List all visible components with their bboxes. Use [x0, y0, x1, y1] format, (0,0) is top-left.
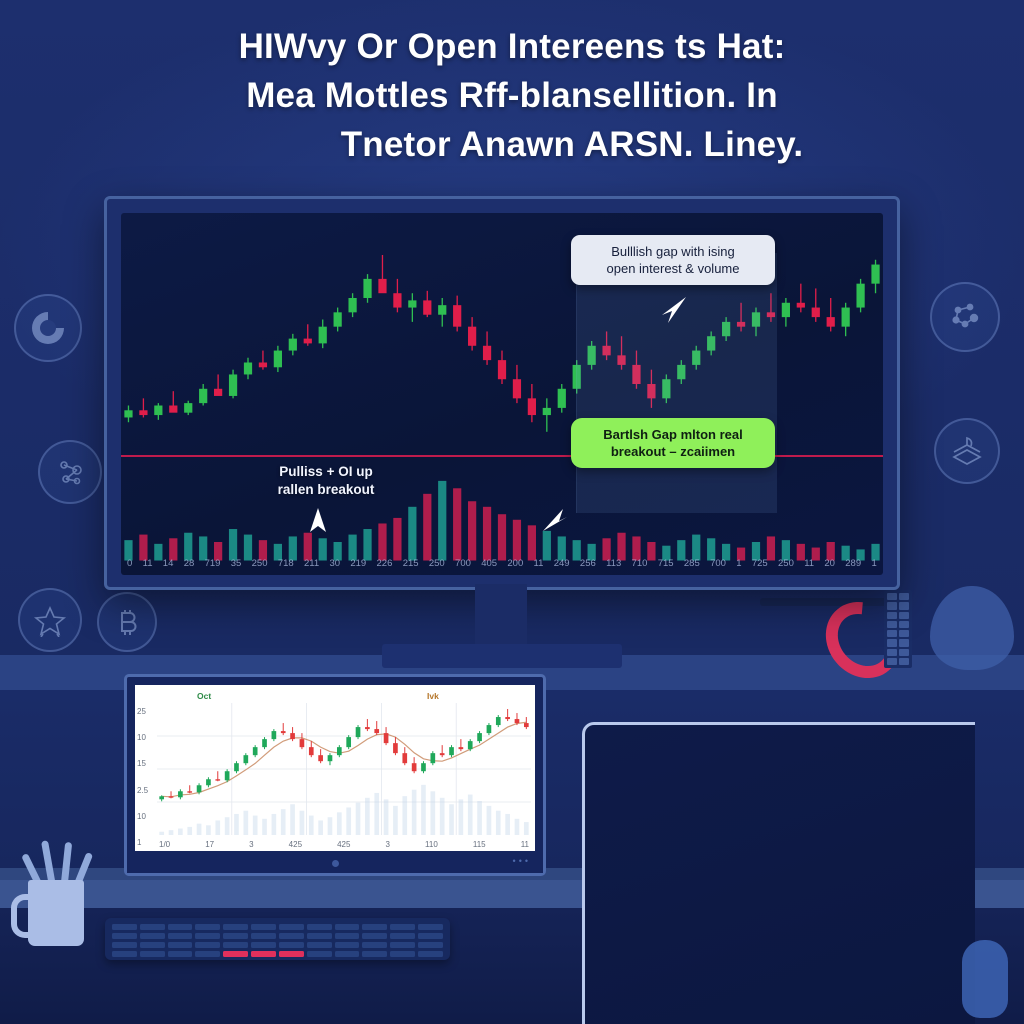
key[interactable]	[307, 924, 332, 930]
key[interactable]	[335, 942, 360, 948]
secondary-display-panel[interactable]	[582, 722, 975, 1024]
bitcoin-coin-icon	[97, 592, 157, 652]
key[interactable]	[362, 924, 387, 930]
key[interactable]	[307, 933, 332, 939]
key[interactable]	[390, 951, 415, 957]
star-badge-icon	[18, 588, 82, 652]
key[interactable]	[140, 951, 165, 957]
key[interactable]	[251, 933, 276, 939]
x-tick: 14	[163, 558, 174, 569]
laptop: Oct Ivk 2510152.5101 1/01734254253110115…	[124, 674, 546, 876]
key[interactable]	[168, 924, 193, 930]
key[interactable]	[112, 933, 137, 939]
laptop-tag-right: Ivk	[427, 691, 439, 701]
monitor-x-axis: 0111428719352507182113021922621525070040…	[121, 558, 883, 569]
network-nodes-icon	[930, 282, 1000, 352]
x-tick: 226	[377, 558, 393, 569]
key[interactable]	[418, 933, 443, 939]
key[interactable]	[335, 924, 360, 930]
keyboard-row[interactable]	[112, 942, 443, 948]
x-tick: 256	[580, 558, 596, 569]
key[interactable]	[390, 933, 415, 939]
screenshot-root: HIWvy Or Open Intereens ts Hat: Mea Mott…	[0, 0, 1024, 1024]
x-tick: 11	[521, 840, 529, 849]
key[interactable]	[223, 924, 248, 930]
headline-line-3: Tnetor Anawn ARSN. Liney.	[0, 120, 1024, 169]
x-tick: 110	[425, 840, 438, 849]
left-anno-line-1: Pulliss + OI up	[231, 463, 421, 481]
x-tick: 200	[507, 558, 523, 569]
pullback-annotation: Pulliss + OI up rallen breakout	[231, 463, 421, 499]
key[interactable]	[168, 951, 193, 957]
key[interactable]	[140, 933, 165, 939]
laptop-y-axis: 2510152.5101	[137, 707, 148, 847]
x-tick: 30	[329, 558, 340, 569]
x-tick: 715	[658, 558, 674, 569]
laptop-candlestick-chart	[157, 703, 531, 835]
key[interactable]	[251, 924, 276, 930]
key[interactable]	[223, 942, 248, 948]
laptop-x-axis: 1/0173425425311011511	[159, 840, 529, 849]
x-tick: 17	[205, 840, 214, 849]
key[interactable]	[195, 942, 220, 948]
x-tick: 0	[127, 558, 132, 569]
y-tick: 1	[137, 838, 148, 847]
key[interactable]	[279, 942, 304, 948]
key[interactable]	[335, 951, 360, 957]
key[interactable]	[112, 924, 137, 930]
x-tick: 250	[778, 558, 794, 569]
mug	[28, 880, 84, 946]
key[interactable]	[279, 924, 304, 930]
x-tick: 215	[403, 558, 419, 569]
key[interactable]	[390, 924, 415, 930]
x-tick: 11	[534, 558, 544, 569]
g-circle-icon	[14, 294, 82, 362]
laptop-indicator-icon	[332, 860, 339, 867]
key[interactable]	[362, 942, 387, 948]
x-tick: 425	[289, 840, 302, 849]
key[interactable]	[140, 942, 165, 948]
key[interactable]	[418, 924, 443, 930]
key[interactable]	[112, 951, 137, 957]
tooltip-line-1: Bulllish gap with ising	[582, 243, 764, 260]
volume-arrow-icon	[541, 505, 567, 533]
laptop-dots-icon: •••	[513, 856, 531, 866]
key[interactable]	[223, 933, 248, 939]
x-tick: 249	[554, 558, 570, 569]
x-tick: 700	[710, 558, 726, 569]
key-accent[interactable]	[223, 951, 248, 957]
x-tick: 289	[845, 558, 861, 569]
key[interactable]	[362, 951, 387, 957]
left-anno-line-2: rallen breakout	[231, 481, 421, 499]
monitor-base	[382, 644, 622, 668]
x-tick: 250	[429, 558, 445, 569]
y-tick: 25	[137, 707, 148, 716]
x-tick: 725	[752, 558, 768, 569]
laptop-tag-left: Oct	[197, 691, 211, 701]
x-tick: 11	[143, 558, 153, 569]
x-tick: 3	[386, 840, 390, 849]
x-tick: 1/0	[159, 840, 170, 849]
key[interactable]	[307, 951, 332, 957]
key[interactable]	[168, 942, 193, 948]
key[interactable]	[307, 942, 332, 948]
y-tick: 10	[137, 733, 148, 742]
x-tick: 1	[871, 558, 876, 569]
gap-highlight-zone	[576, 253, 777, 513]
key[interactable]	[168, 933, 193, 939]
key[interactable]	[251, 942, 276, 948]
x-tick: 718	[278, 558, 294, 569]
x-tick: 20	[824, 558, 835, 569]
key[interactable]	[390, 942, 415, 948]
x-tick: 405	[481, 558, 497, 569]
x-tick: 35	[231, 558, 242, 569]
x-tick: 719	[205, 558, 221, 569]
x-tick: 1	[736, 558, 741, 569]
page-title: HIWvy Or Open Intereens ts Hat: Mea Mott…	[0, 22, 1024, 169]
key[interactable]	[195, 951, 220, 957]
green-tag-line-2: breakout – zcaiimen	[582, 443, 764, 460]
ticker-grid-icon	[884, 590, 912, 668]
book-stack-icon	[934, 418, 1000, 484]
x-tick: 425	[337, 840, 350, 849]
monitor-neck	[475, 584, 527, 646]
x-tick: 700	[455, 558, 471, 569]
keyboard-row[interactable]	[112, 924, 443, 930]
y-tick: 2.5	[137, 786, 148, 795]
mug-handle	[11, 894, 39, 938]
x-tick: 285	[684, 558, 700, 569]
key-accent[interactable]	[251, 951, 276, 957]
monitor: Bulllish gap with ising open interest & …	[104, 196, 900, 590]
x-tick: 28	[184, 558, 195, 569]
key-accent[interactable]	[279, 951, 304, 957]
y-tick: 15	[137, 759, 148, 768]
mouse[interactable]	[962, 940, 1008, 1018]
x-tick: 115	[473, 840, 486, 849]
y-tick: 10	[137, 812, 148, 821]
key[interactable]	[418, 942, 443, 948]
monitor-screen[interactable]: Bulllish gap with ising open interest & …	[121, 213, 883, 575]
x-tick: 250	[252, 558, 268, 569]
keyboard-row[interactable]	[112, 951, 443, 957]
laptop-screen[interactable]: Oct Ivk 2510152.5101 1/01734254253110115…	[135, 685, 535, 851]
tooltip-line-2: open interest & volume	[582, 260, 764, 277]
bearish-gap-tag[interactable]: Bartlsh Gap mlton real breakout – zcaiim…	[571, 418, 775, 468]
key[interactable]	[195, 924, 220, 930]
x-tick: 11	[804, 558, 814, 569]
key[interactable]	[279, 933, 304, 939]
x-tick: 219	[350, 558, 366, 569]
x-tick: 113	[606, 558, 621, 569]
key[interactable]	[195, 933, 220, 939]
molecule-network-icon	[38, 440, 102, 504]
pullback-arrow-icon	[306, 508, 330, 534]
keyboard[interactable]	[105, 918, 450, 960]
x-tick: 3	[249, 840, 253, 849]
key[interactable]	[112, 942, 137, 948]
x-tick: 211	[304, 558, 319, 569]
headline-line-2: Mea Mottles Rff-blansellition. In	[0, 71, 1024, 120]
x-tick: 710	[632, 558, 648, 569]
bullish-gap-tooltip[interactable]: Bulllish gap with ising open interest & …	[571, 235, 775, 285]
keyboard-row[interactable]	[112, 933, 443, 939]
key[interactable]	[140, 924, 165, 930]
tooltip-arrow-icon	[656, 293, 690, 329]
key[interactable]	[335, 933, 360, 939]
green-tag-line-1: Bartlsh Gap mlton real	[582, 426, 764, 443]
laptop-chin: •••	[127, 853, 543, 873]
headline-line-1: HIWvy Or Open Intereens ts Hat:	[0, 22, 1024, 71]
key[interactable]	[362, 933, 387, 939]
key[interactable]	[418, 951, 443, 957]
